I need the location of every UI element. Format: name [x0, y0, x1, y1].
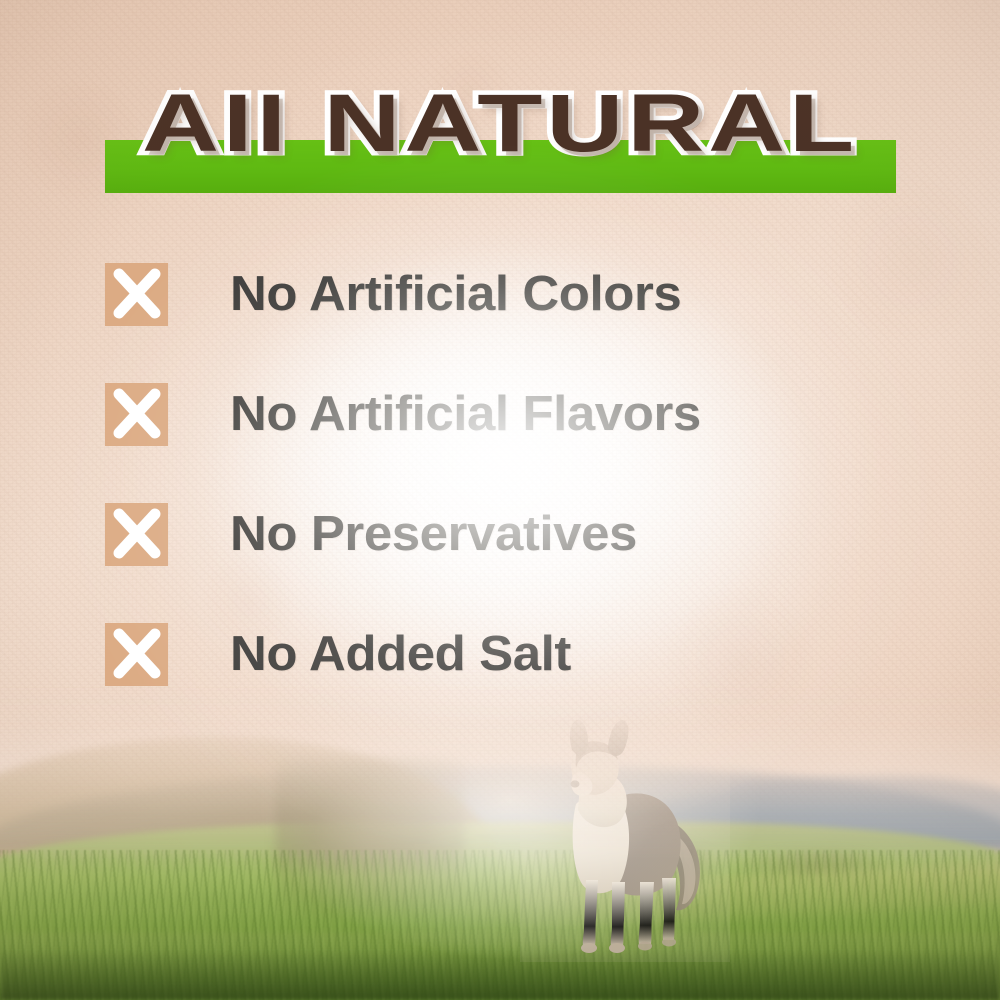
- photo-content: [0, 680, 1000, 1000]
- landscape-photo: [0, 680, 1000, 1000]
- claim-label: No Artificial Flavors: [230, 388, 701, 440]
- claim-row: No Artificial Flavors: [105, 378, 925, 450]
- claims-list: No Artificial Colors No Artificial Flavo…: [105, 258, 925, 690]
- x-mark-icon: [105, 263, 168, 326]
- all-natural-feature-panel: AII NATURAL No Artificial Colors No Arti…: [0, 0, 1000, 1000]
- headline-banner: AII NATURAL: [0, 72, 1000, 192]
- x-mark-icon: [105, 383, 168, 446]
- claim-label: No Artificial Colors: [230, 268, 681, 320]
- x-mark-checkbox: [105, 263, 168, 326]
- claim-label: No Added Salt: [230, 628, 571, 680]
- claim-label: No Preservatives: [230, 508, 637, 560]
- x-mark-checkbox: [105, 623, 168, 686]
- x-mark-icon: [105, 623, 168, 686]
- grass-shadow: [0, 948, 1000, 1000]
- headline-title: AII NATURAL: [0, 72, 1000, 176]
- claim-row: No Preservatives: [105, 498, 925, 570]
- dog-illustration: [520, 712, 730, 962]
- x-mark-icon: [105, 503, 168, 566]
- claim-row: No Artificial Colors: [105, 258, 925, 330]
- x-mark-checkbox: [105, 383, 168, 446]
- x-mark-checkbox: [105, 503, 168, 566]
